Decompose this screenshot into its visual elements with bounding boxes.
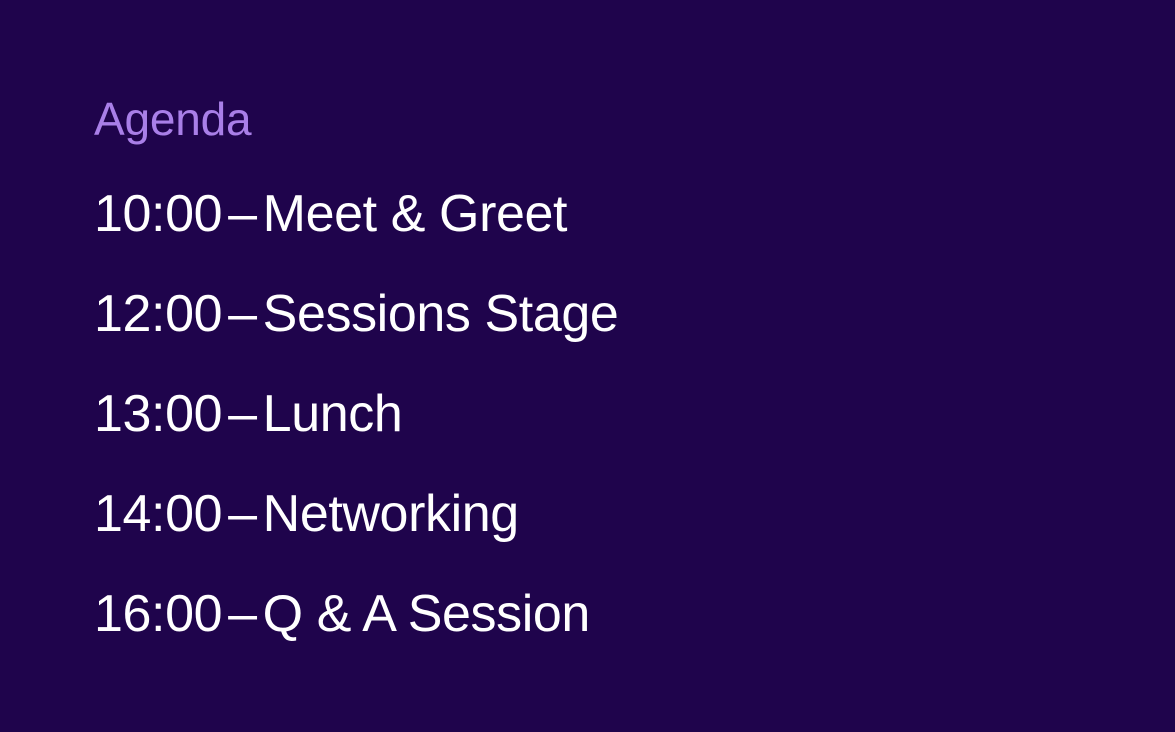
agenda-item-separator: –	[222, 185, 263, 243]
agenda-slide: Agenda 10:00–Meet & Greet 12:00–Sessions…	[0, 0, 1175, 732]
agenda-item-time: 10:00	[94, 185, 222, 243]
agenda-item-separator: –	[222, 485, 263, 543]
agenda-item-separator: –	[222, 585, 263, 643]
agenda-item-time: 16:00	[94, 585, 222, 643]
agenda-item-label: Meet & Greet	[263, 185, 567, 243]
page-title: Agenda	[94, 96, 1115, 142]
agenda-item-time: 14:00	[94, 485, 222, 543]
agenda-list: 10:00–Meet & Greet 12:00–Sessions Stage …	[94, 188, 1115, 640]
slide-content: Agenda 10:00–Meet & Greet 12:00–Sessions…	[94, 96, 1115, 640]
agenda-item-label: Networking	[263, 485, 519, 543]
list-item: 16:00–Q & A Session	[94, 588, 1115, 640]
list-item: 14:00–Networking	[94, 488, 1115, 540]
agenda-item-separator: –	[222, 385, 263, 443]
list-item: 13:00–Lunch	[94, 388, 1115, 440]
agenda-item-label: Sessions Stage	[263, 285, 619, 343]
agenda-item-time: 12:00	[94, 285, 222, 343]
list-item: 12:00–Sessions Stage	[94, 288, 1115, 340]
agenda-item-separator: –	[222, 285, 263, 343]
list-item: 10:00–Meet & Greet	[94, 188, 1115, 240]
agenda-item-label: Lunch	[263, 385, 403, 443]
agenda-item-time: 13:00	[94, 385, 222, 443]
agenda-item-label: Q & A Session	[263, 585, 590, 643]
